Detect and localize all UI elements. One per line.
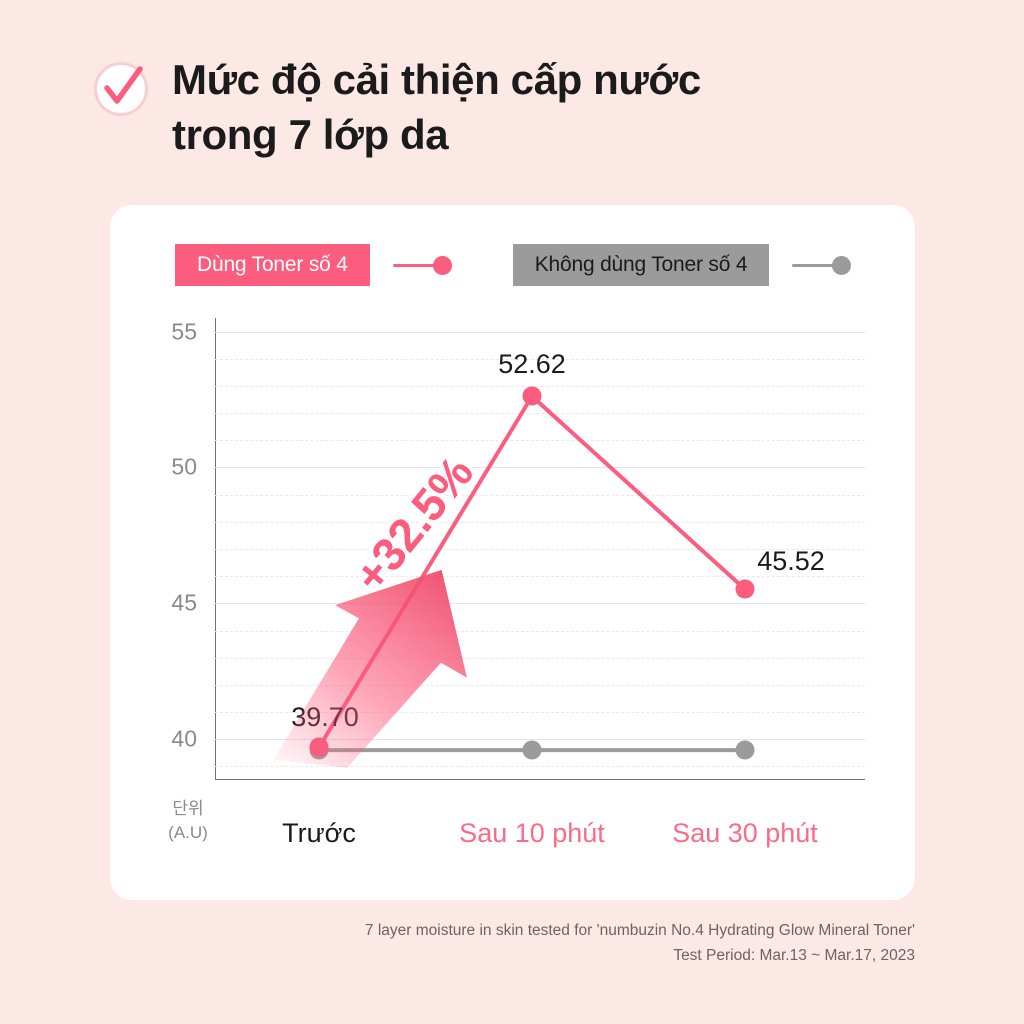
footnote-line1: 7 layer moisture in skin tested for 'num… xyxy=(300,918,915,943)
data-value-label: 45.52 xyxy=(757,546,825,577)
x-axis-label: Trước xyxy=(282,818,356,849)
legend-item-toner[interactable]: Dùng Toner số 4 xyxy=(172,241,452,289)
data-value-label: 39.70 xyxy=(291,702,359,733)
y-axis-tick-label: 45 xyxy=(171,590,197,617)
y-axis-tick-label: 40 xyxy=(171,726,197,753)
y-axis-tick-label: 55 xyxy=(171,318,197,345)
legend-marker-toner xyxy=(393,256,452,275)
data-value-label: 52.62 xyxy=(498,349,566,380)
legend-marker-no-toner xyxy=(792,256,851,275)
x-axis-label: Sau 30 phút xyxy=(672,818,818,849)
legend-dot-toner xyxy=(433,256,452,275)
chart-card: Dùng Toner số 4 Không dùng Toner số 4 55… xyxy=(110,205,915,900)
legend-dot-no-toner xyxy=(832,256,851,275)
page-title-line1: Mức độ cải thiện cấp nước xyxy=(172,52,701,107)
footnote-line2: Test Period: Mar.13 ~ Mar.17, 2023 xyxy=(300,943,915,968)
axis-unit-line2: (A.U) xyxy=(158,821,218,845)
check-circle-icon xyxy=(92,60,150,118)
legend-line-toner xyxy=(393,264,435,267)
axis-unit-line1: 단위 xyxy=(158,797,218,821)
legend-label-toner: Dùng Toner số 4 xyxy=(172,241,373,289)
data-point[interactable] xyxy=(736,741,755,760)
y-axis-tick-label: 50 xyxy=(171,454,197,481)
x-axis-label: Sau 10 phút xyxy=(459,818,605,849)
page-header: Mức độ cải thiện cấp nước trong 7 lớp da xyxy=(92,52,952,163)
series-line xyxy=(319,396,745,747)
data-point[interactable] xyxy=(523,387,542,406)
legend-line-no-toner xyxy=(792,264,834,267)
x-axis-labels: TrướcSau 10 phútSau 30 phút xyxy=(215,800,865,860)
chart-legend: Dùng Toner số 4 Không dùng Toner số 4 xyxy=(172,241,851,289)
data-point[interactable] xyxy=(736,580,755,599)
data-point[interactable] xyxy=(310,738,329,757)
page-title: Mức độ cải thiện cấp nước trong 7 lớp da xyxy=(172,52,701,163)
chart-plot-area: 55504540 39.7052.6245.52 +32.5% +32.5% xyxy=(215,318,865,780)
check-mark-icon xyxy=(92,60,150,118)
data-point[interactable] xyxy=(523,741,542,760)
axis-unit-label: 단위 (A.U) xyxy=(158,797,218,845)
legend-label-no-toner: Không dùng Toner số 4 xyxy=(510,241,773,289)
chart-footnote: 7 layer moisture in skin tested for 'num… xyxy=(300,918,915,968)
page-title-line2: trong 7 lớp da xyxy=(172,107,701,162)
legend-item-no-toner[interactable]: Không dùng Toner số 4 xyxy=(510,241,852,289)
